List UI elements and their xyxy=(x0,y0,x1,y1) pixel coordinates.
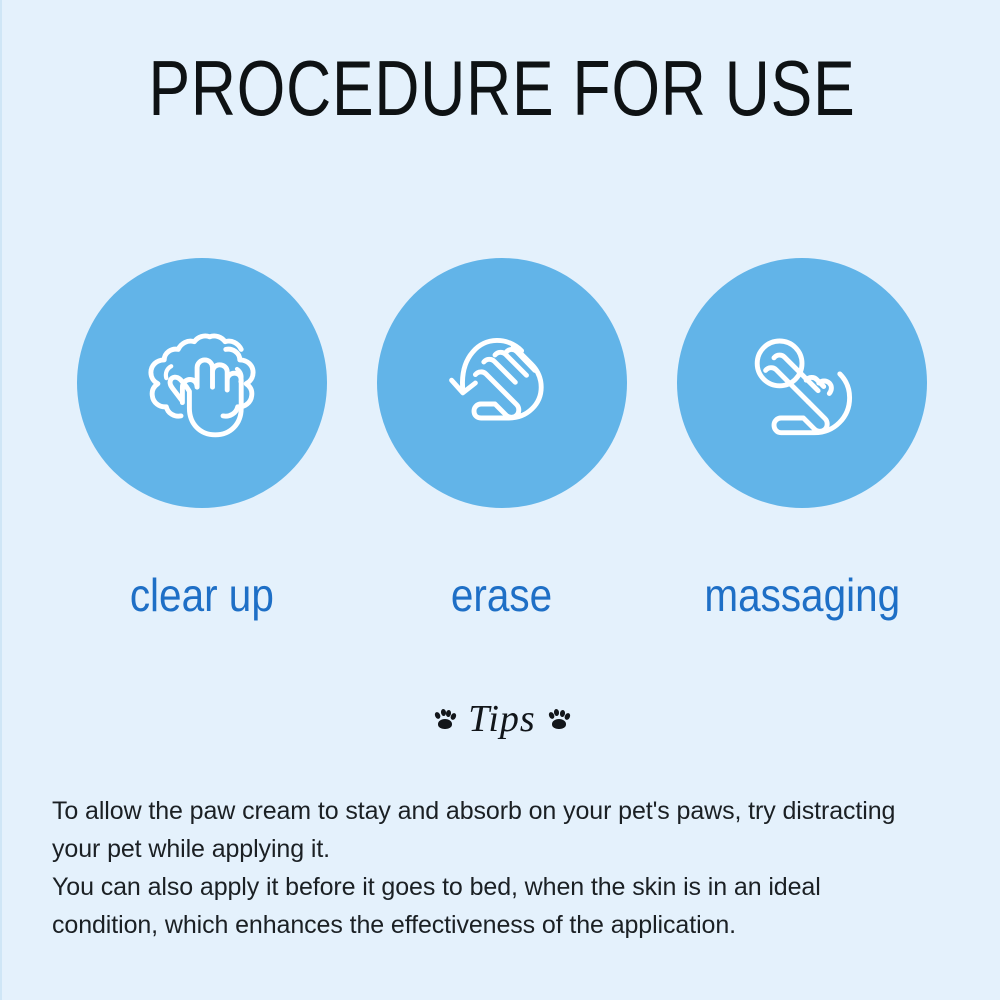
step-icon-circle-2 xyxy=(377,258,627,508)
step-clear-up: clear up xyxy=(77,258,327,620)
tips-line-3: You can also apply it before it goes to … xyxy=(52,868,970,906)
tips-heading-label: Tips xyxy=(468,698,535,740)
steps-row: clear up erase xyxy=(2,258,1000,620)
tips-line-1: To allow the paw cream to stay and absor… xyxy=(52,792,970,830)
paw-print-icon-right xyxy=(548,708,570,730)
two-finger-tap-hand-icon xyxy=(732,313,872,453)
tips-line-2: your pet while applying it. xyxy=(52,830,970,868)
procedure-for-use-page: PROCEDURE FOR USE clear up xyxy=(0,0,1000,1000)
hand-with-foam-lather-icon xyxy=(132,313,272,453)
paw-print-icon-left xyxy=(434,708,456,730)
step-label-massaging: massaging xyxy=(704,570,900,620)
step-label-erase: erase xyxy=(451,570,552,620)
step-icon-circle-1 xyxy=(77,258,327,508)
page-title: PROCEDURE FOR USE xyxy=(102,48,902,128)
step-icon-circle-3 xyxy=(677,258,927,508)
step-massaging: massaging xyxy=(677,258,927,620)
step-erase: erase xyxy=(377,258,627,620)
hand-wiping-with-arrow-icon xyxy=(432,313,572,453)
step-label-clear-up: clear up xyxy=(130,570,274,620)
tips-line-4: condition, which enhances the effectiven… xyxy=(52,906,970,944)
tips-body-text: To allow the paw cream to stay and absor… xyxy=(52,792,970,944)
tips-heading: Tips xyxy=(2,698,1000,740)
